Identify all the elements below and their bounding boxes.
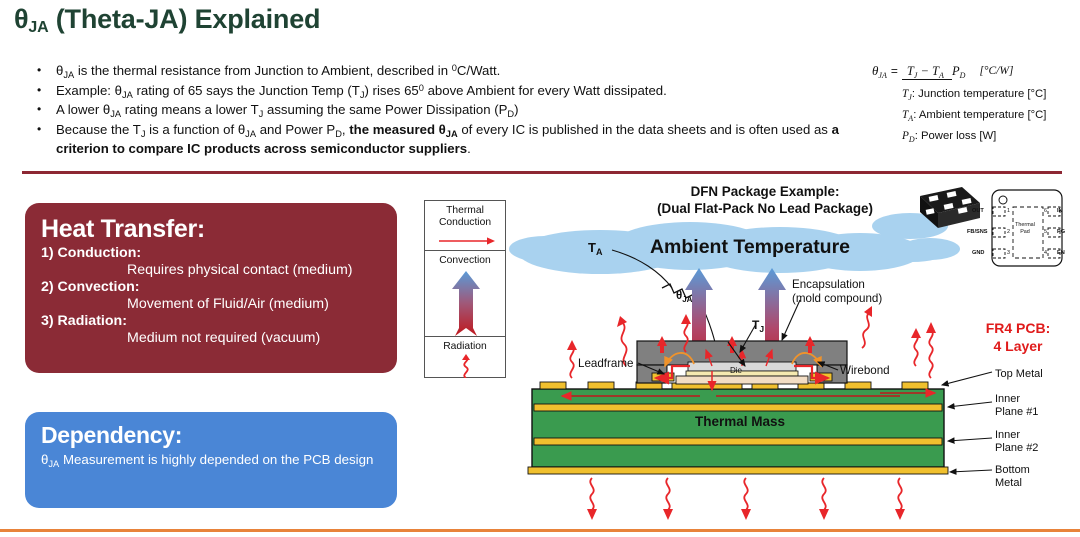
mode-cell-radiation: Radiation	[425, 337, 505, 377]
convection-arrow-left	[685, 268, 713, 378]
encapsulation-left-wall	[637, 365, 667, 383]
inner1-leader	[948, 402, 992, 407]
pcb-inner-plane-2	[534, 438, 942, 445]
die-leader	[728, 342, 745, 366]
conduction-path-left	[656, 366, 690, 378]
mode-label-radiation: Radiation	[425, 337, 505, 353]
bullet-marker: •	[30, 101, 56, 120]
bullet-text: θJA is the thermal resistance from Junct…	[56, 62, 860, 81]
pin-label-fbsns: FB/SNS	[967, 229, 988, 235]
formula-numerator: TJ − TA	[902, 64, 952, 80]
heat-transfer-item-label-2: 2) Convection:	[41, 279, 381, 295]
pcb-top-metal-pads	[540, 382, 928, 389]
bullet-text: Example: θJA rating of 65 says the Junct…	[56, 82, 860, 101]
encapsulation-body	[637, 341, 847, 365]
theta-ja-leader	[700, 302, 720, 362]
die-heat-arrows	[706, 350, 772, 366]
formula-definition-3: PD: Power loss [W]	[872, 130, 1077, 142]
pin-label-en: EN	[1057, 250, 1065, 256]
formula-lhs: θJA	[872, 63, 887, 79]
leadframe-leader	[638, 363, 664, 374]
formula-unit: [°C/W]	[979, 65, 1013, 77]
bullet-item-2: •Example: θJA rating of 65 says the Junc…	[30, 82, 860, 101]
bottom-metal-label: BottomMetal	[995, 464, 1030, 490]
page-title: θJA (Theta-JA) Explained	[14, 4, 320, 35]
die-pad	[676, 376, 808, 384]
bullet-item-3: •A lower θJA rating means a lower TJ ass…	[30, 101, 860, 120]
heat-modes-table: ThermalConduction Convection	[424, 200, 506, 378]
top-metal-label: Top Metal	[995, 368, 1043, 381]
formula-denominator: PD	[952, 63, 965, 78]
heat-transfer-items: 1) Conduction:Requires physical contact …	[41, 245, 381, 346]
theta-ja-label: θJA	[676, 290, 692, 302]
wirebond-leader	[818, 362, 838, 370]
formula-definitions: TJ: Junction temperature [°C]TA: Ambient…	[872, 88, 1077, 142]
pin-number-3: 3	[1007, 250, 1010, 256]
dependency-panel: Dependency: θJA Measurement is highly de…	[25, 412, 397, 508]
bullet-list: •θJA is the thermal resistance from Junc…	[30, 62, 860, 160]
bullet-text: A lower θJA rating means a lower TJ assu…	[56, 101, 860, 120]
leadframe-left	[652, 373, 674, 381]
radiation-squiggle-right-outer	[926, 322, 936, 378]
bullet-item-1: •θJA is the thermal resistance from Junc…	[30, 62, 860, 81]
formula-panel: θJA = TJ − TA PD [°C/W] TJ: Junction tem…	[872, 63, 1077, 142]
thermal-pad-label: ThermalPad	[1008, 222, 1042, 236]
ta-label: TA	[588, 240, 602, 255]
dependency-text: θJA Measurement is highly depended on th…	[41, 451, 381, 468]
encapsulation-label: Encapsulation(mold compound)	[792, 278, 882, 306]
bullet-marker: •	[30, 82, 56, 101]
tj-label: TJ	[752, 318, 764, 332]
formula-definition-1: TJ: Junction temperature [°C]	[872, 88, 1077, 100]
mode-label-convection: Convection	[425, 251, 505, 267]
top-metal-leader	[942, 372, 992, 385]
pin-number-6: 6	[1044, 208, 1047, 214]
slide-root: θJA (Theta-JA) Explained •θJA is the the…	[0, 0, 1080, 537]
heat-transfer-item-desc-1: Requires physical contact (medium)	[41, 262, 381, 278]
pin-number-5: 5	[1044, 229, 1047, 235]
bottom-metal-leader	[950, 470, 992, 472]
conduction-arrow-icon	[425, 234, 507, 248]
bullet-marker: •	[30, 121, 56, 158]
inner-plane-2-label: InnerPlane #2	[995, 429, 1038, 455]
pin-number-4: 4	[1044, 250, 1047, 256]
heat-transfer-title: Heat Transfer:	[41, 215, 381, 244]
formula-equation: θJA = TJ − TA PD [°C/W]	[872, 63, 1077, 79]
heat-transfer-item-desc-2: Movement of Fluid/Air (medium)	[41, 296, 381, 312]
bullet-text: Because the TJ is a function of θJA and …	[56, 121, 860, 158]
formula-definition-2: TA: Ambient temperature [°C]	[872, 109, 1077, 121]
pin-label-in: IN	[1057, 208, 1063, 214]
inner-plane-1-label: InnerPlane #1	[995, 393, 1038, 419]
divider-top	[22, 171, 1062, 174]
leadframe-label: Leadframe	[578, 357, 633, 371]
radiation-squiggle-icon	[425, 354, 507, 378]
pin-label-out: OUT	[972, 208, 984, 214]
formula-equals: =	[891, 64, 898, 78]
heat-transfer-item-label-3: 3) Radiation:	[41, 313, 381, 329]
cloud-tail	[878, 242, 946, 262]
formula-fraction: TJ − TA PD	[902, 64, 966, 79]
package-top-heat-arrows	[657, 336, 815, 353]
radiation-squiggle-arrowheads	[567, 306, 921, 350]
mode-label-conduction: ThermalConduction	[425, 201, 505, 229]
mode-cell-conduction: ThermalConduction	[425, 201, 505, 251]
bullet-marker: •	[30, 62, 56, 81]
die-label: Die	[730, 366, 742, 375]
encapsulation-leader	[782, 300, 800, 340]
wirebond-label: Wirebond	[840, 364, 890, 378]
wirebond-right	[792, 353, 821, 366]
pcb-bottom-metal	[528, 467, 948, 474]
pin-number-1: 1	[1007, 208, 1010, 214]
pin-label-gnd: GND	[972, 250, 984, 256]
convection-arrow-icon	[425, 270, 507, 336]
thermal-mass-label: Thermal Mass	[640, 414, 840, 429]
heat-transfer-panel: Heat Transfer: 1) Conduction:Requires ph…	[25, 203, 397, 373]
heat-transfer-item-desc-3: Medium not required (vacuum)	[41, 330, 381, 346]
dfn-3d-package-icon	[920, 187, 980, 228]
fr4-pcb-label: FR4 PCB:4 Layer	[963, 320, 1073, 355]
dependency-title: Dependency:	[41, 422, 381, 449]
dfn-header: DFN Package Example:(Dual Flat-Pack No L…	[620, 183, 910, 218]
leadframe-right	[810, 373, 832, 381]
heat-transfer-item-label-1: 1) Conduction:	[41, 245, 381, 261]
mode-cell-convection: Convection	[425, 251, 505, 337]
wirebond-left	[665, 353, 694, 366]
pcb-inner-plane-1	[534, 404, 942, 411]
bullet-item-4: •Because the TJ is a function of θJA and…	[30, 121, 860, 158]
conduction-path-right	[794, 366, 828, 378]
divider-bottom	[0, 529, 1080, 532]
pin-label-pg: PG	[1057, 229, 1065, 235]
ambient-temperature-label: Ambient Temperature	[630, 236, 870, 259]
inner2-leader	[948, 438, 992, 441]
bottom-radiation-squiggles	[587, 478, 905, 520]
